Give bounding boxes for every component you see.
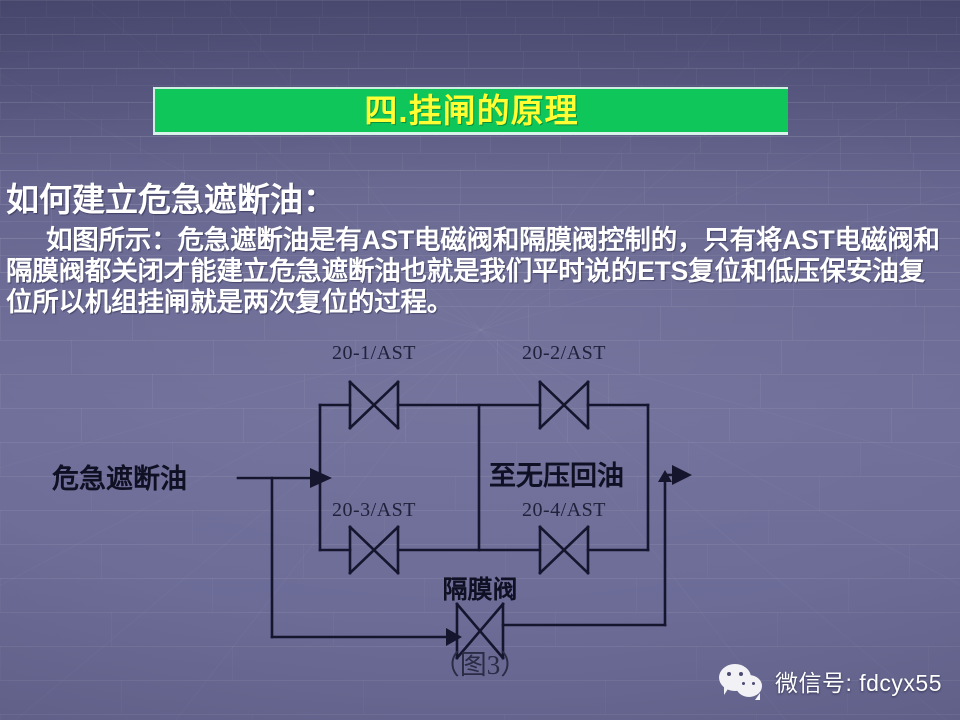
body-paragraph: 如图所示：危急遮断油是有AST电磁阀和隔膜阀控制的，只有将AST电磁阀和 隔膜阀… [6,225,954,318]
wechat-watermark: 微信号: fdcyx55 [719,664,942,698]
page-title: 四.挂闸的原理 [364,94,578,127]
valve-symbol-20-4 [540,527,588,573]
valve-symbol-20-1 [350,382,398,428]
paragraph-line-2: 隔膜阀都关闭才能建立危急遮断油也就是我们平时说的ETS复位和低压保安油复 [6,256,954,287]
figure-caption: （图3） [433,650,528,680]
valve-label-20-2: 20-2/AST [522,342,606,364]
slide-canvas: 四.挂闸的原理 如何建立危急遮断油： 如图所示：危急遮断油是有AST电磁阀和隔膜… [0,0,960,720]
title-banner: 四.挂闸的原理 [153,87,788,135]
valve-label-20-1: 20-1/AST [332,342,416,364]
wechat-id-text: 微信号: fdcyx55 [775,664,942,698]
paragraph-line-3: 位所以机组挂闸就是两次复位的过程。 [6,287,954,318]
outlet-label: 至无压回油 [489,461,624,491]
valve-label-20-3: 20-3/AST [332,499,416,521]
outlet-arrowhead [672,465,692,485]
hydraulic-schematic: 20-1/AST 20-2/AST 20-3/AST 20-4/AST 危急遮断… [0,330,960,690]
paragraph-line-1: 如图所示：危急遮断油是有AST电磁阀和隔膜阀控制的，只有将AST电磁阀和 [6,225,954,256]
diaphragm-valve-label: 隔膜阀 [442,576,517,604]
diaphragm-inlet-arrowhead [446,628,462,646]
inlet-label: 危急遮断油 [52,463,187,494]
valve-symbol-20-2 [540,382,588,428]
valve-symbol-20-3 [350,527,398,573]
valve-label-20-4: 20-4/AST [522,499,606,521]
wechat-icon [719,664,765,698]
section-heading: 如何建立危急遮断油： [6,173,336,221]
